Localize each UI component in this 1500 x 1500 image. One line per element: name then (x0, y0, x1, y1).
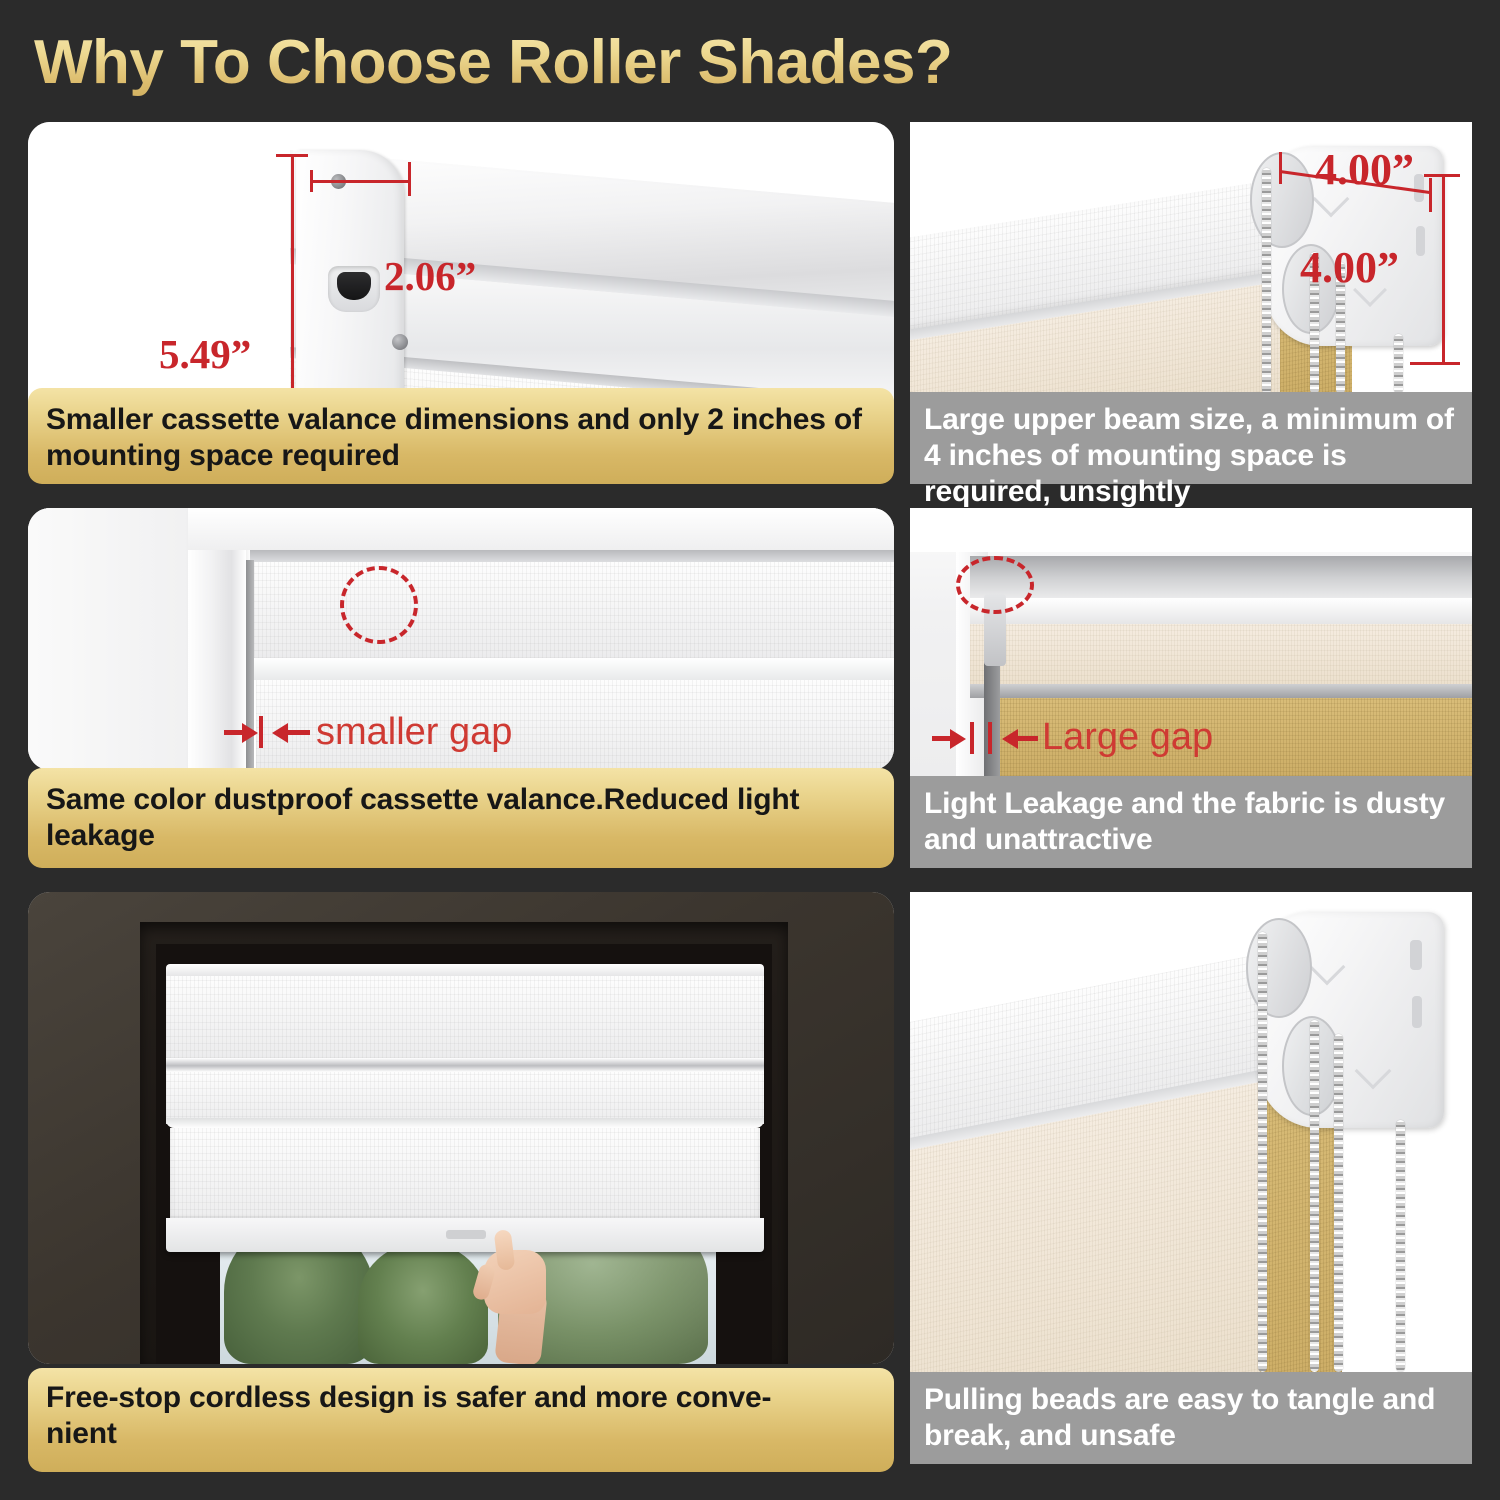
roller-end-disc (1250, 152, 1314, 248)
mr-gap-highlight-circle (956, 556, 1034, 614)
br-bead-chain-3 (1334, 1034, 1343, 1372)
bl-shade-fabric (170, 1128, 760, 1224)
panel-bottom-right (910, 892, 1472, 1372)
caption-top-right: Large upper beam size, a minimum of 4 in… (910, 392, 1472, 484)
gap-tick-bar (259, 716, 263, 748)
bottom-right-photo (910, 892, 1472, 1372)
tr-height-tick-bottom (1410, 362, 1460, 365)
gap-arrow-left-head (242, 723, 258, 743)
tr-height-dim-label: 4.00” (1300, 242, 1399, 293)
br-bracket-slot-2 (1412, 996, 1422, 1028)
caption-bottom-left-line2: nient (46, 1416, 876, 1452)
bracket-slot-2 (1416, 226, 1425, 256)
panel-bottom-left (28, 892, 894, 1364)
roller-tube (970, 556, 1472, 604)
caption-top-left: Smaller cassette valance dimensions and … (28, 388, 894, 484)
br-bead-chain-1 (1258, 932, 1267, 1372)
top-right-photo: 4.00” 4.00” (910, 122, 1472, 392)
bl-headrail-top (166, 964, 764, 976)
bl-headrail-groove (166, 1058, 764, 1072)
cassette-bottom-rail (250, 658, 894, 680)
caption-bottom-left-line1: Free-stop cordless design is safer and m… (46, 1380, 876, 1416)
smaller-gap-label: smaller gap (316, 711, 512, 754)
bead-chain-1 (1262, 168, 1271, 392)
gap-highlight-circle (340, 566, 418, 644)
gap-arrow-right-shaft (286, 730, 310, 735)
bead-chain-4 (1394, 334, 1403, 392)
tr-height-dim-line (1442, 174, 1445, 364)
width-dim-line (310, 180, 410, 183)
panel-top-right: 4.00” 4.00” (910, 122, 1472, 392)
br-bead-chain-4 (1396, 1120, 1405, 1372)
mr-gap-arrow-right-shaft (1016, 736, 1038, 741)
caption-bottom-right: Pulling beads are easy to tangle and bre… (910, 1372, 1472, 1464)
tr-height-tick-top (1424, 174, 1460, 177)
tr-width-tick-left (1279, 152, 1282, 184)
bl-bottom-bar-tab (446, 1230, 486, 1239)
wall-surface (28, 508, 198, 770)
mr-ceiling-band (910, 508, 1472, 552)
width-dim-label: 2.06” (384, 252, 476, 300)
page-title: Why To Choose Roller Shades? (34, 24, 1134, 102)
caption-mid-left: Same color dustproof cassette valance.Re… (28, 768, 894, 868)
mid-left-photo: smaller gap (28, 508, 894, 770)
br-bead-chain-2 (1310, 1020, 1319, 1372)
mr-cream-band-edge (970, 684, 1472, 698)
cassette-top-edge (250, 550, 894, 562)
mr-gap-arrow-left-head (950, 729, 966, 749)
infographic-root: Why To Choose Roller Shades? (0, 0, 1500, 1500)
bl-headrail-bottom-edge (166, 1118, 764, 1128)
bl-headrail-lower (166, 1072, 764, 1124)
bl-headrail-face (166, 976, 764, 1058)
end-cap-screw-mid (392, 334, 408, 350)
br-bracket-slot-1 (1410, 940, 1422, 970)
panel-mid-right: Large gap (910, 508, 1472, 776)
mr-gap-tick-1 (970, 722, 974, 754)
br-roller-disc-top (1246, 918, 1312, 1018)
bracket-slot-1 (1414, 174, 1424, 202)
tr-width-dim-label: 4.00” (1315, 144, 1414, 195)
hand-palm (484, 1250, 546, 1314)
mr-cream-band (970, 624, 1472, 686)
large-gap-label: Large gap (1042, 716, 1213, 759)
window-frame-head (188, 508, 894, 550)
bottom-left-photo (28, 892, 894, 1364)
roller-tube-highlight (970, 598, 1472, 624)
height-dim-tick-top (276, 154, 308, 157)
window-view-tree-mid (358, 1242, 488, 1364)
width-dim-tick-left (310, 170, 313, 192)
mid-right-photo: Large gap (910, 508, 1472, 776)
mr-gap-tick-2 (988, 722, 992, 754)
caption-mid-right: Light Leakage and the fabric is dusty an… (910, 776, 1472, 868)
height-dim-label: 5.49” (159, 330, 251, 378)
width-dim-tick-right (408, 162, 411, 196)
tr-width-tick-right (1429, 178, 1432, 212)
panel-mid-left: smaller gap (28, 508, 894, 770)
caption-bottom-left: Free-stop cordless design is safer and m… (28, 1368, 894, 1472)
